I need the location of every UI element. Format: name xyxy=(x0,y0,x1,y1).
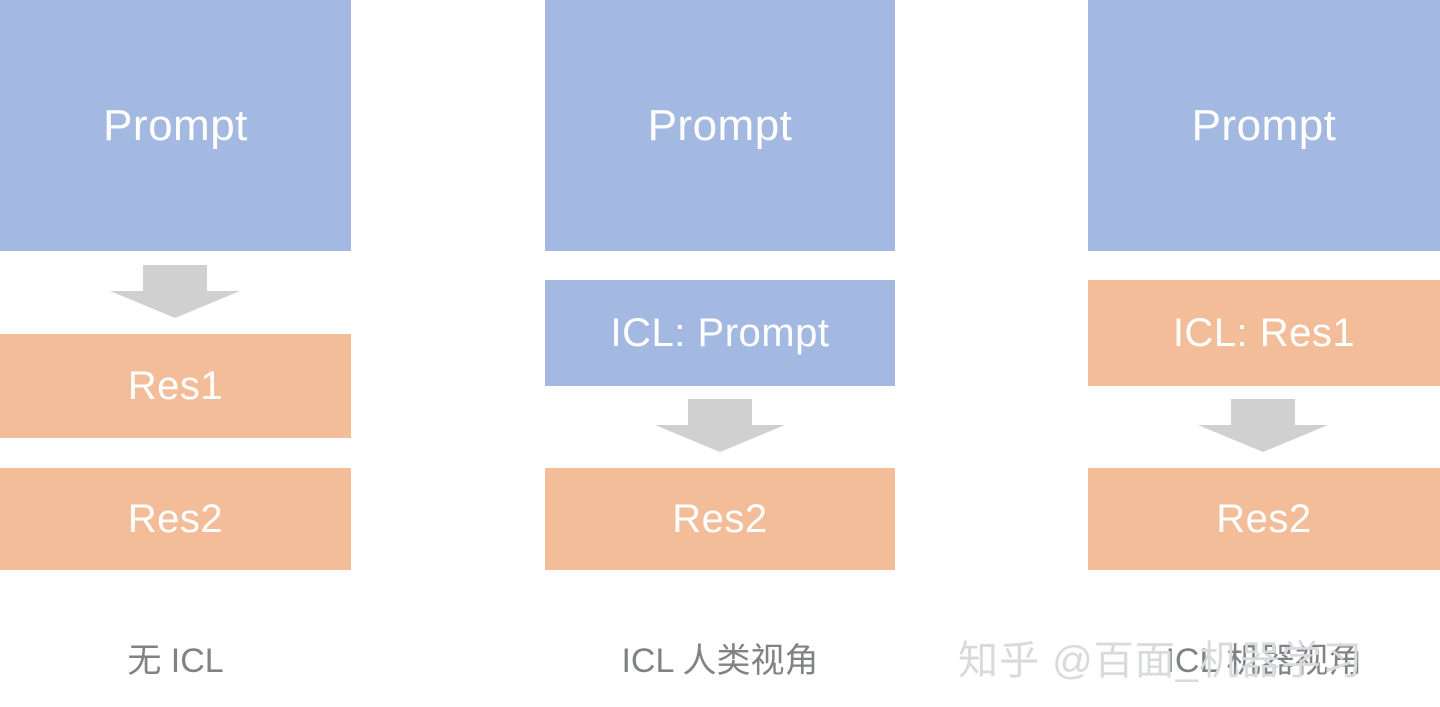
arrow-down-glyph xyxy=(1198,399,1328,452)
col3-prompt-label: Prompt xyxy=(1192,104,1337,148)
col1-res2-label: Res2 xyxy=(128,499,223,539)
col2-arrow-down-icon xyxy=(655,399,785,452)
col1-caption: 无 ICL xyxy=(0,633,351,682)
col1-res2-box: Res2 xyxy=(0,468,351,570)
col2-icl-prompt-label: ICL: Prompt xyxy=(611,313,830,353)
col3-prompt-box: Prompt xyxy=(1088,0,1440,251)
col2-icl-prompt-box: ICL: Prompt xyxy=(545,280,895,386)
col1-prompt-box: Prompt xyxy=(0,0,351,251)
arrow-down-glyph xyxy=(110,265,240,318)
col1-arrow-down-icon xyxy=(110,265,240,318)
col3-res2-box: Res2 xyxy=(1088,468,1440,570)
col3-arrow-down-icon xyxy=(1198,399,1328,452)
col2-caption: ICL 人类视角 xyxy=(545,633,895,682)
col3-icl-res1-box: ICL: Res1 xyxy=(1088,280,1440,386)
col2-res2-label: Res2 xyxy=(672,499,767,539)
col3-icl-res1-label: ICL: Res1 xyxy=(1173,313,1355,353)
diagram-canvas: Prompt Res1 Res2 无 ICL Prompt ICL: Promp… xyxy=(0,0,1440,707)
col2-prompt-label: Prompt xyxy=(648,104,793,148)
col2-res2-box: Res2 xyxy=(545,468,895,570)
col1-res1-label: Res1 xyxy=(128,366,223,406)
col2-prompt-box: Prompt xyxy=(545,0,895,251)
col1-res1-box: Res1 xyxy=(0,334,351,438)
col3-res2-label: Res2 xyxy=(1216,499,1311,539)
col1-prompt-label: Prompt xyxy=(103,104,248,148)
col3-caption: ICL 机器视角 xyxy=(1088,633,1440,682)
arrow-down-glyph xyxy=(655,399,785,452)
